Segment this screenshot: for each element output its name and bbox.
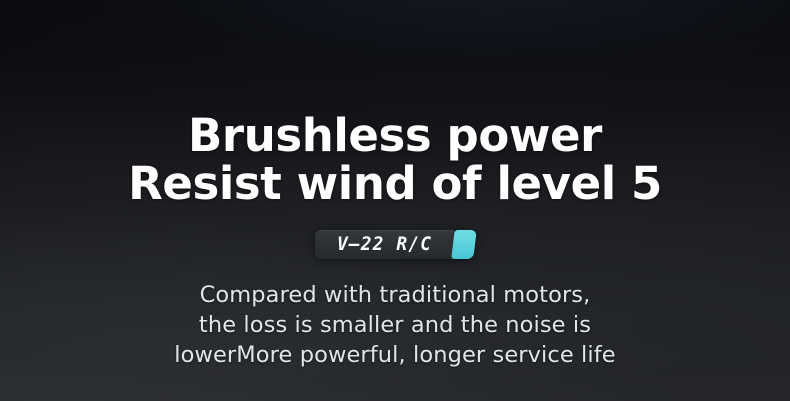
banner-content: Brushless power Resist wind of level 5 V… <box>0 0 790 401</box>
headline-line-1: Brushless power <box>128 112 662 160</box>
headline-block: Brushless power Resist wind of level 5 <box>128 112 662 208</box>
subtitle-line-1: Compared with traditional motors, <box>174 280 615 310</box>
subtitle-line-2: the loss is smaller and the noise is <box>174 310 615 340</box>
model-badge-plate: V–22 R/C <box>315 230 455 259</box>
model-badge: V–22 R/C <box>315 230 475 259</box>
subtitle-block: Compared with traditional motors, the lo… <box>174 280 615 370</box>
cyan-chip-icon <box>451 230 477 259</box>
headline-line-2: Resist wind of level 5 <box>128 160 662 208</box>
model-badge-label: V–22 R/C <box>337 235 432 254</box>
promo-banner: Brushless power Resist wind of level 5 V… <box>0 0 790 401</box>
subtitle-line-3: lowerMore powerful, longer service life <box>174 340 615 370</box>
